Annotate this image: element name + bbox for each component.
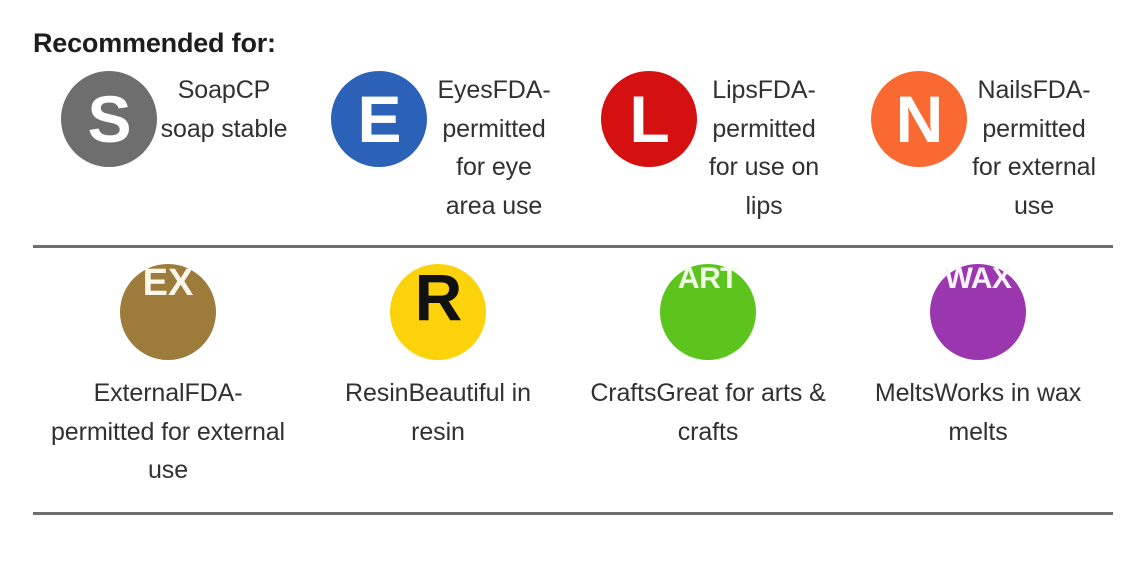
badge-lips-icon: L <box>601 71 697 167</box>
badge-item[interactable]: WAXMeltsWorks in wax melts <box>843 264 1113 490</box>
row-divider-1 <box>33 245 1113 248</box>
badge-glyph: WAX <box>930 264 1026 294</box>
badge-glyph: R <box>390 264 486 330</box>
badge-glyph: S <box>87 86 130 152</box>
badge-glyph: ART <box>660 264 756 294</box>
badge-label: LipsFDA-permitted for use on lips <box>699 71 829 225</box>
badge-eyes-icon: E <box>331 71 427 167</box>
row-divider-2 <box>33 512 1113 515</box>
badge-crafts-icon: ART <box>660 264 756 360</box>
badge-melts-icon: WAX <box>930 264 1026 360</box>
badge-glyph: E <box>357 86 400 152</box>
badge-glyph: EX <box>120 264 216 302</box>
badge-item[interactable]: NNailsFDA-permitted for external use <box>843 71 1113 225</box>
badge-soap-icon: S <box>61 71 157 167</box>
badge-item[interactable]: ARTCraftsGreat for arts & crafts <box>573 264 843 490</box>
badge-item[interactable]: EXExternalFDA-permitted for external use <box>33 264 303 490</box>
recommended-for-panel: Recommended for: SSoapCP soap stableEEye… <box>0 0 1136 576</box>
badge-item[interactable]: EEyesFDA-permitted for eye area use <box>303 71 573 225</box>
badge-item[interactable]: LLipsFDA-permitted for use on lips <box>573 71 843 225</box>
badge-glyph: L <box>629 86 668 152</box>
badge-external-icon: EX <box>120 264 216 360</box>
badge-label: ExternalFDA-permitted for external use <box>51 379 285 484</box>
badge-label: CraftsGreat for arts & crafts <box>590 379 825 446</box>
badge-label: SoapCP soap stable <box>159 71 289 148</box>
badge-label: EyesFDA-permitted for eye area use <box>429 71 559 225</box>
badge-glyph: N <box>896 86 943 152</box>
badge-label: MeltsWorks in wax melts <box>875 379 1081 446</box>
page-title: Recommended for: <box>0 0 1136 59</box>
badge-resin-icon: R <box>390 264 486 360</box>
badge-item[interactable]: RResinBeautiful in resin <box>303 264 573 490</box>
badge-label: NailsFDA-permitted for external use <box>969 71 1099 225</box>
badge-nails-icon: N <box>871 71 967 167</box>
badge-item[interactable]: SSoapCP soap stable <box>33 71 303 225</box>
badge-row-2: EXExternalFDA-permitted for external use… <box>33 264 1113 490</box>
badge-row-1: SSoapCP soap stableEEyesFDA-permitted fo… <box>33 71 1113 225</box>
badge-label: ResinBeautiful in resin <box>345 379 531 446</box>
